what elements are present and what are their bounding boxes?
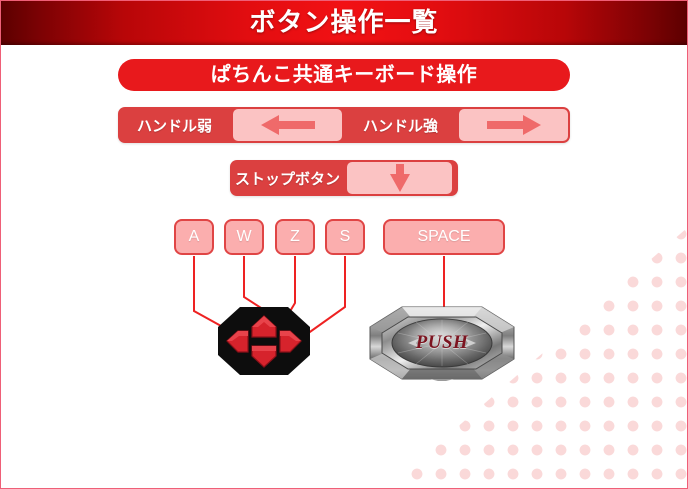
key-z[interactable]: Z bbox=[275, 219, 315, 255]
stop-button-label: ストップボタン bbox=[230, 160, 345, 196]
key-w[interactable]: W bbox=[224, 219, 264, 255]
content-area: ぱちんこ共通キーボード操作 ハンドル弱 ハンドル強 ストップボタン bbox=[0, 0, 688, 489]
handle-control-row: ハンドル弱 ハンドル強 bbox=[118, 107, 570, 143]
push-button[interactable]: PUSH bbox=[368, 305, 516, 381]
arrow-down-icon bbox=[387, 163, 413, 193]
key-a[interactable]: A bbox=[174, 219, 214, 255]
direction-pad[interactable] bbox=[218, 307, 310, 375]
arrow-left-icon bbox=[259, 113, 317, 137]
stop-arrow-panel bbox=[347, 162, 452, 194]
key-space[interactable]: SPACE bbox=[383, 219, 505, 255]
handle-weak-arrow-panel bbox=[233, 109, 342, 141]
handle-strong-label: ハンドル強 bbox=[344, 107, 457, 143]
section-title-banner: ぱちんこ共通キーボード操作 bbox=[118, 59, 570, 91]
handle-weak-label: ハンドル弱 bbox=[118, 107, 231, 143]
push-button-body bbox=[368, 305, 516, 381]
arrow-right-icon bbox=[485, 113, 543, 137]
stop-control-row: ストップボタン bbox=[230, 160, 458, 196]
slide-page: ボタン操作一覧 ぱちんこ共通キーボード操作 ハンドル弱 ハンドル強 ストップボタ… bbox=[0, 0, 688, 489]
key-s[interactable]: S bbox=[325, 219, 365, 255]
handle-strong-arrow-panel bbox=[459, 109, 568, 141]
